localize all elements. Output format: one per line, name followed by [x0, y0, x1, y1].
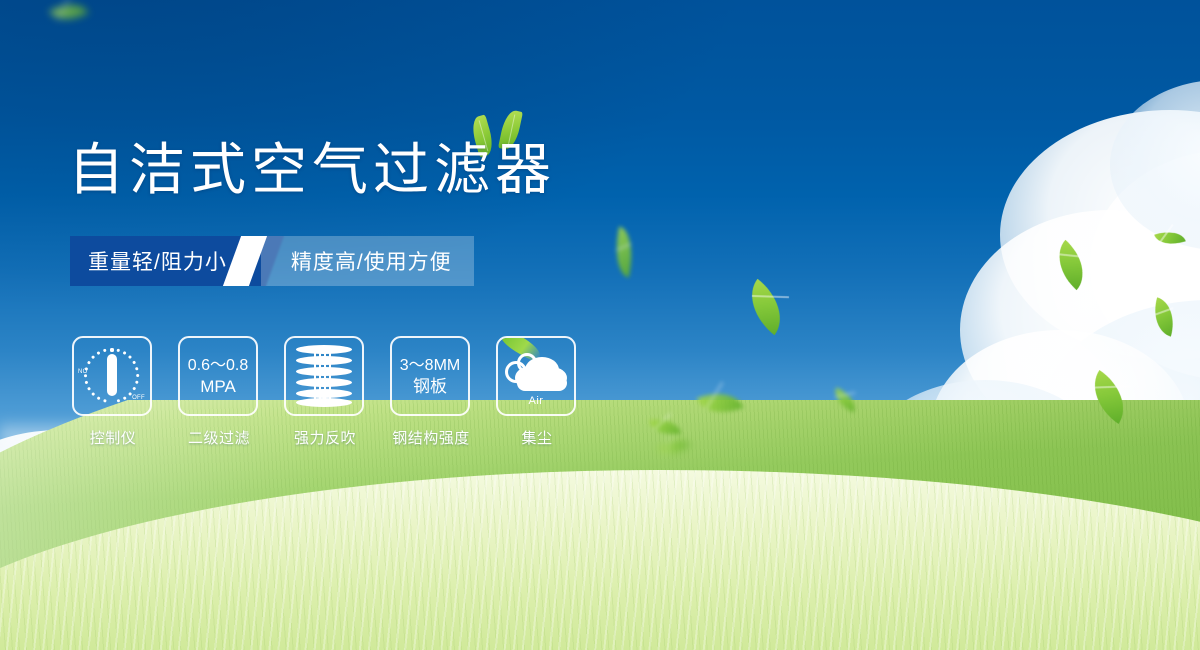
- feature-box-controller[interactable]: NO OFF: [72, 336, 152, 416]
- feature-item-controller[interactable]: NO OFF 控制仪: [72, 336, 154, 448]
- steel-thickness-line: 3〜8MM: [400, 355, 460, 376]
- pressure-range-line: 0.6〜0.8: [188, 355, 249, 376]
- feature-item-dust[interactable]: Air 集尘: [496, 336, 578, 448]
- feature-label: 强力反吹: [284, 427, 366, 448]
- feature-item-steel[interactable]: 3〜8MM 钢板 钢结构强度: [390, 336, 472, 448]
- pressure-unit-line: MPA: [188, 376, 249, 397]
- gauge-needle-icon: [107, 354, 117, 396]
- filter-stack-icon: [296, 345, 352, 407]
- feature-item-pressure[interactable]: 0.6〜0.8 MPA 二级过滤: [178, 336, 260, 448]
- gauge-dial-icon: NO OFF: [80, 345, 144, 407]
- page-title: 自洁式空气过滤器: [68, 142, 556, 198]
- feature-box-dust[interactable]: Air: [496, 336, 576, 416]
- subtitle-bar: 重量轻/阻力小 精度高/使用方便: [70, 236, 474, 286]
- feature-box-steel[interactable]: 3〜8MM 钢板: [390, 336, 470, 416]
- feature-box-pressure[interactable]: 0.6〜0.8 MPA: [178, 336, 258, 416]
- feature-box-backblow[interactable]: [284, 336, 364, 416]
- product-banner: 自洁式空气过滤器 重量轻/阻力小 精度高/使用方便: [0, 0, 1200, 650]
- feature-label: 控制仪: [72, 427, 154, 448]
- steel-plate-text-icon: 3〜8MM 钢板: [400, 355, 460, 397]
- feature-item-backblow[interactable]: 强力反吹: [284, 336, 366, 448]
- feature-list: NO OFF 控制仪 0.6〜0.8 MPA 二级过滤: [72, 336, 578, 448]
- feature-label: 集尘: [496, 427, 578, 448]
- air-caption: Air: [503, 395, 569, 407]
- air-cloud-icon: Air: [503, 345, 569, 407]
- subtitle-right-segment: 精度高/使用方便: [261, 236, 474, 286]
- feature-label: 钢结构强度: [390, 427, 472, 448]
- gauge-no-label: NO: [78, 369, 88, 375]
- feature-label: 二级过滤: [178, 427, 260, 448]
- pressure-text-icon: 0.6〜0.8 MPA: [188, 355, 249, 397]
- gauge-off-label: OFF: [132, 395, 145, 401]
- steel-material-line: 钢板: [400, 376, 460, 397]
